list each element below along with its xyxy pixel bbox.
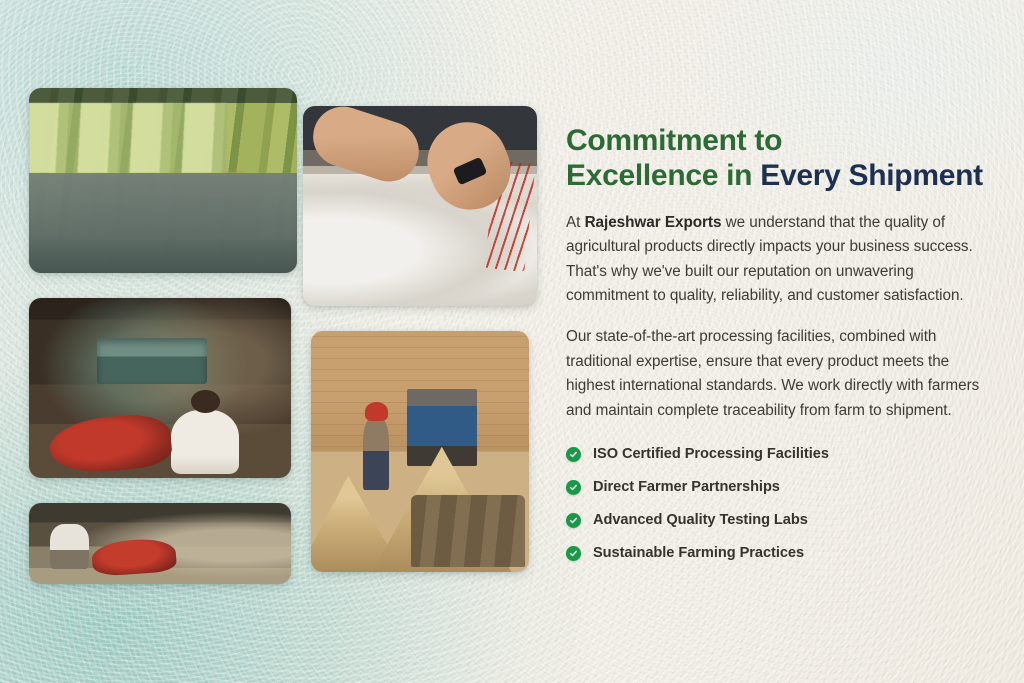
- feature-item-farmer-partnerships: Direct Farmer Partnerships: [566, 479, 990, 495]
- secondary-paragraph: Our state-of-the-art processing faciliti…: [566, 325, 990, 423]
- check-circle-icon: [566, 513, 581, 528]
- company-name: Rajeshwar Exports: [585, 214, 722, 231]
- photo-detail-jute-sacks: [411, 495, 524, 567]
- intro-paragraph: At Rajeshwar Exports we understand that …: [566, 211, 990, 309]
- check-circle-icon: [566, 447, 581, 462]
- feature-item-iso-certified: ISO Certified Processing Facilities: [566, 446, 990, 462]
- promo-section: Commitment to Excellence in Every Shipme…: [0, 0, 1024, 683]
- gallery-photo-grain-yard: [311, 331, 529, 572]
- photo-image-loading-cart: [29, 503, 291, 584]
- heading-line-1: Commitment to: [566, 124, 782, 157]
- intro-lead: At: [566, 214, 585, 231]
- feature-label: ISO Certified Processing Facilities: [593, 446, 829, 462]
- feature-label: Sustainable Farming Practices: [593, 545, 804, 561]
- gallery-photo-sack-tying: [303, 106, 537, 306]
- photo-image-drying-yard: [29, 88, 297, 273]
- section-heading: Commitment to Excellence in Every Shipme…: [566, 124, 990, 194]
- heading-line-2-green: Excellence in: [566, 159, 760, 192]
- heading-line-2-accent: Every Shipment: [760, 159, 983, 192]
- gallery-photo-loading-cart: [29, 503, 291, 584]
- feature-list: ISO Certified Processing Facilities Dire…: [566, 446, 990, 561]
- check-circle-icon: [566, 546, 581, 561]
- feature-label: Advanced Quality Testing Labs: [593, 512, 808, 528]
- photo-detail-worker-shirt: [171, 410, 239, 475]
- content-column: Commitment to Excellence in Every Shipme…: [566, 124, 990, 578]
- photo-image-grain-yard: [311, 331, 529, 572]
- check-circle-icon: [566, 480, 581, 495]
- feature-item-quality-labs: Advanced Quality Testing Labs: [566, 512, 990, 528]
- gallery-photo-processing-machine: [29, 298, 291, 478]
- feature-item-sustainable-farming: Sustainable Farming Practices: [566, 545, 990, 561]
- photo-image-sack-tying: [303, 106, 537, 306]
- photo-detail-worker-scarf: [363, 418, 389, 490]
- gallery-photo-drying-yard: [29, 88, 297, 273]
- photo-image-processing-machine: [29, 298, 291, 478]
- feature-label: Direct Farmer Partnerships: [593, 479, 780, 495]
